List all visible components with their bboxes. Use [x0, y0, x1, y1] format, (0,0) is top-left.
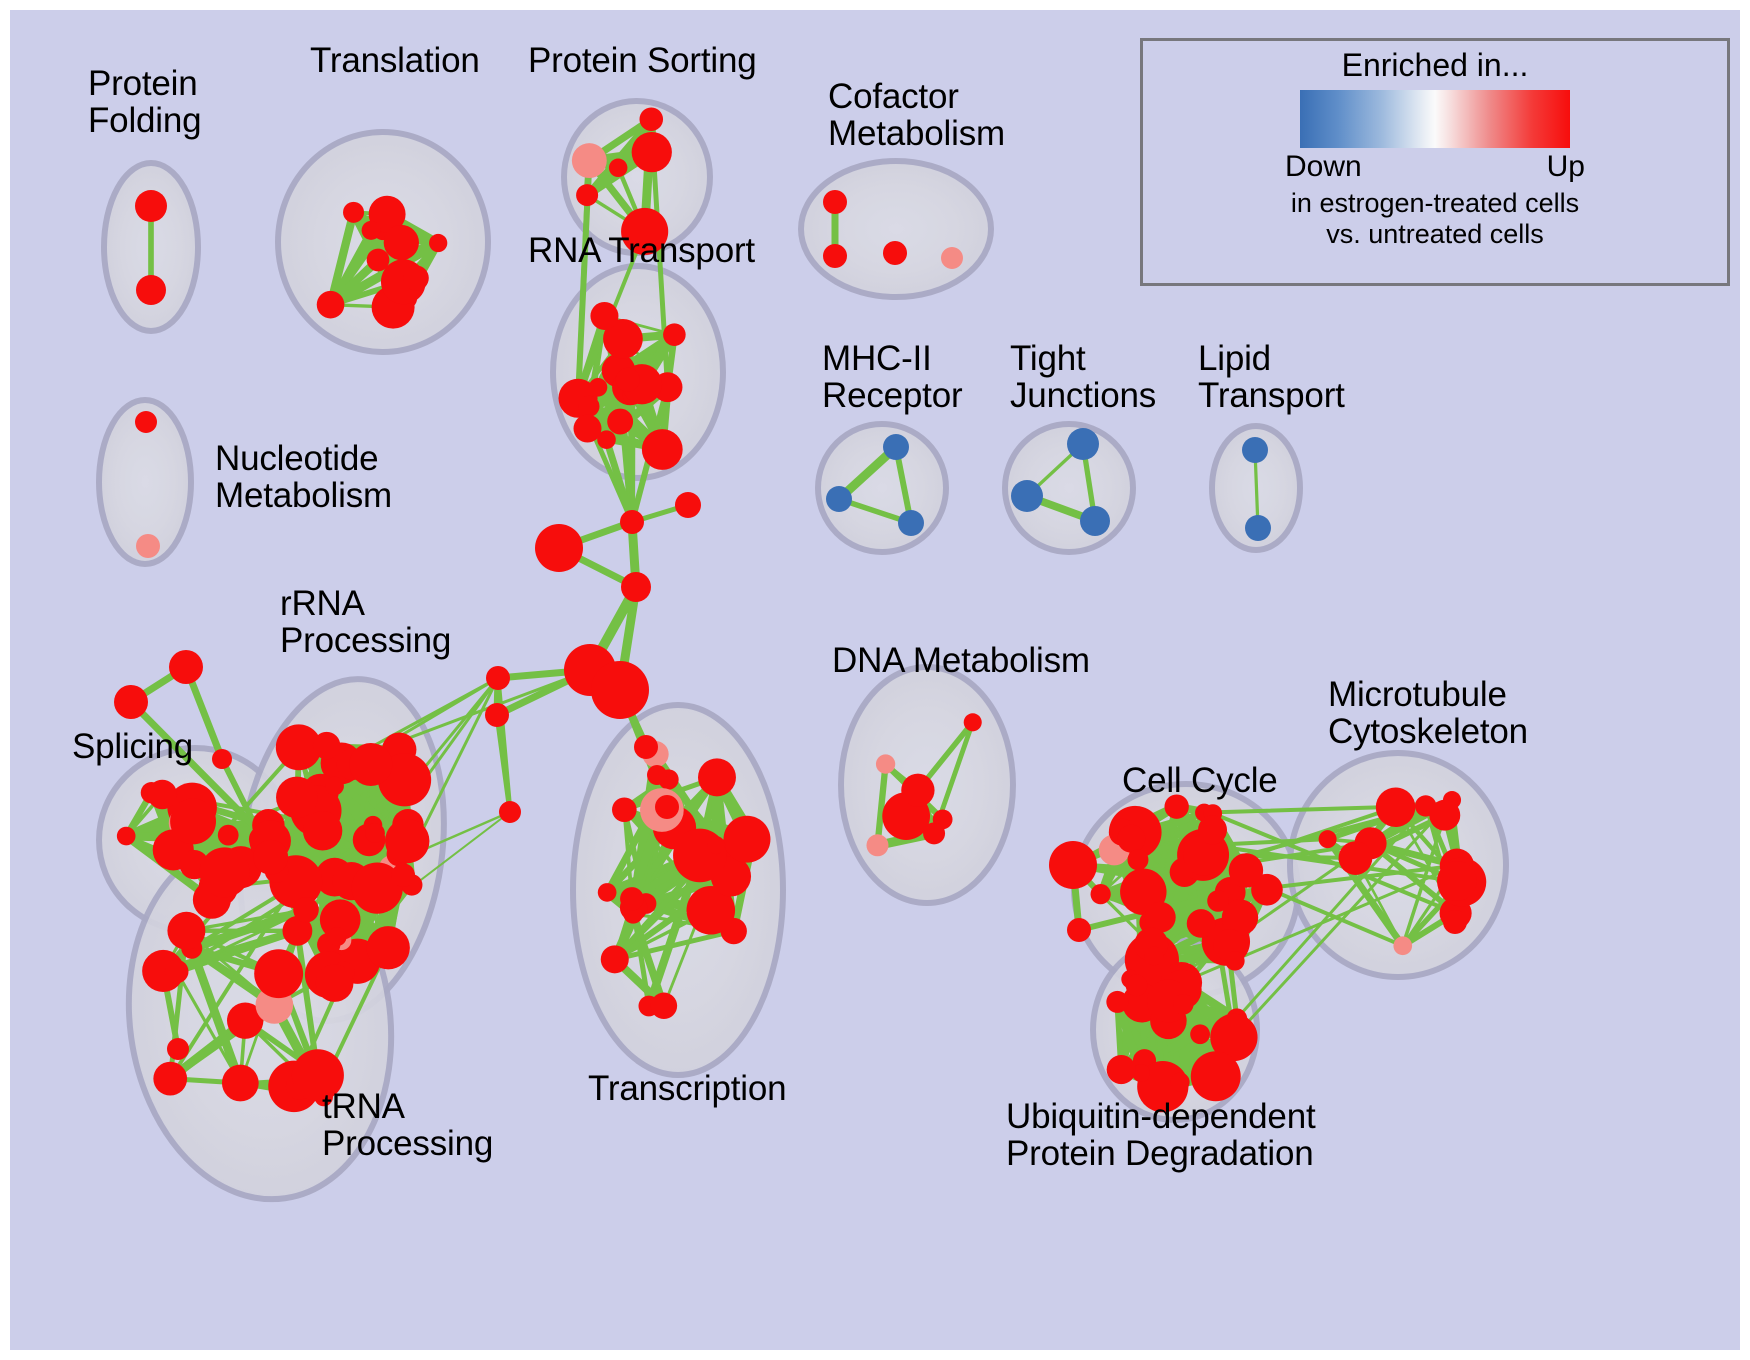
network-node[interactable]	[167, 912, 205, 950]
network-node[interactable]	[876, 754, 895, 773]
network-node[interactable]	[222, 1065, 259, 1102]
network-node[interactable]	[328, 927, 347, 946]
network-node[interactable]	[601, 945, 629, 973]
network-node[interactable]	[1376, 787, 1416, 827]
legend-low-label: Down	[1285, 150, 1362, 184]
network-node[interactable]	[325, 777, 344, 796]
network-node[interactable]	[823, 190, 847, 214]
network-node[interactable]	[723, 816, 770, 863]
cluster-label-ubiquitin-degradation: Ubiquitin-dependent Protein Degradation	[1006, 1098, 1316, 1172]
network-node[interactable]	[1107, 1055, 1136, 1084]
network-node[interactable]	[1173, 994, 1194, 1015]
network-node[interactable]	[1049, 841, 1097, 889]
network-node[interactable]	[941, 247, 963, 269]
network-node[interactable]	[578, 396, 599, 417]
network-node[interactable]	[826, 486, 852, 512]
network-node[interactable]	[535, 524, 583, 572]
network-node[interactable]	[167, 1038, 189, 1060]
network-node[interactable]	[1207, 890, 1229, 912]
network-node[interactable]	[153, 1062, 187, 1096]
network-node[interactable]	[576, 184, 598, 206]
network-node[interactable]	[313, 732, 340, 759]
network-node[interactable]	[1229, 853, 1263, 887]
network-node[interactable]	[1091, 884, 1111, 904]
network-node[interactable]	[598, 883, 617, 902]
cluster-label-protein-folding: Protein Folding	[88, 65, 201, 139]
network-node[interactable]	[1191, 1051, 1241, 1101]
network-node[interactable]	[117, 827, 136, 846]
network-node[interactable]	[883, 241, 907, 265]
network-node[interactable]	[621, 572, 651, 602]
network-node[interactable]	[1117, 825, 1145, 853]
network-node[interactable]	[572, 143, 607, 178]
network-node[interactable]	[367, 926, 410, 969]
network-node[interactable]	[135, 411, 157, 433]
cluster-label-rrna-processing: rRNA Processing	[280, 585, 451, 659]
network-node[interactable]	[675, 492, 701, 518]
legend-caption-line1: in estrogen-treated cells	[1291, 188, 1579, 219]
network-node[interactable]	[1242, 437, 1268, 463]
network-node[interactable]	[362, 221, 381, 240]
network-node[interactable]	[639, 107, 663, 131]
network-node[interactable]	[429, 234, 447, 252]
network-node[interactable]	[485, 703, 509, 727]
network-node[interactable]	[170, 798, 216, 844]
network-node[interactable]	[647, 765, 667, 785]
network-node[interactable]	[1245, 515, 1271, 541]
legend-caption-line2: vs. untreated cells	[1291, 219, 1579, 250]
network-node[interactable]	[200, 847, 250, 897]
cluster-label-cofactor-metabolism: Cofactor Metabolism	[828, 78, 1005, 152]
network-canvas: Protein FoldingTranslationProtein Sortin…	[10, 10, 1740, 1350]
network-node[interactable]	[1067, 428, 1099, 460]
network-node[interactable]	[698, 758, 736, 796]
network-node[interactable]	[655, 795, 679, 819]
network-node[interactable]	[253, 840, 288, 875]
network-node[interactable]	[883, 434, 909, 460]
cluster-label-trna-processing: tRNA Processing	[322, 1088, 493, 1162]
cluster-label-mhc-ii-receptor: MHC-II Receptor	[822, 340, 962, 414]
network-node[interactable]	[404, 265, 429, 290]
network-node[interactable]	[866, 834, 888, 856]
network-node[interactable]	[1106, 991, 1128, 1013]
network-node[interactable]	[486, 666, 510, 690]
network-node[interactable]	[1126, 974, 1148, 996]
cluster-label-nucleotide-metabolism: Nucleotide Metabolism	[215, 440, 392, 514]
network-node[interactable]	[823, 244, 847, 268]
network-node[interactable]	[898, 510, 924, 536]
network-node[interactable]	[135, 190, 167, 222]
network-node[interactable]	[349, 743, 392, 786]
network-node[interactable]	[1198, 815, 1227, 844]
network-node[interactable]	[1437, 861, 1477, 901]
network-node[interactable]	[612, 797, 637, 822]
network-node[interactable]	[1319, 830, 1337, 848]
cluster-label-transcription: Transcription	[588, 1070, 786, 1107]
network-node[interactable]	[616, 368, 640, 392]
cluster-label-dna-metabolism: DNA Metabolism	[832, 642, 1090, 679]
network-node[interactable]	[218, 825, 239, 846]
network-node[interactable]	[1393, 936, 1412, 955]
network-node[interactable]	[293, 897, 319, 923]
network-node[interactable]	[385, 819, 429, 863]
network-node[interactable]	[1225, 951, 1244, 970]
network-node[interactable]	[901, 774, 934, 807]
network-node[interactable]	[316, 964, 354, 1002]
network-node[interactable]	[365, 823, 385, 843]
network-node[interactable]	[114, 685, 148, 719]
network-node[interactable]	[317, 291, 345, 319]
network-node[interactable]	[1187, 909, 1216, 938]
network-node[interactable]	[499, 801, 521, 823]
network-node[interactable]	[303, 811, 342, 850]
network-node[interactable]	[1145, 947, 1164, 966]
network-node[interactable]	[589, 378, 608, 397]
legend-box: Enriched in... Down Up in estrogen-treat…	[1140, 38, 1730, 286]
network-node[interactable]	[1067, 918, 1091, 942]
network-node[interactable]	[707, 836, 725, 854]
network-node[interactable]	[1339, 841, 1373, 875]
cluster-label-cell-cycle: Cell Cycle	[1122, 762, 1278, 799]
network-node[interactable]	[607, 409, 633, 435]
network-node[interactable]	[136, 275, 166, 305]
cluster-label-translation: Translation	[310, 42, 480, 79]
network-node[interactable]	[634, 735, 658, 759]
network-node[interactable]	[1080, 506, 1110, 536]
network-node[interactable]	[1443, 910, 1467, 934]
network-node[interactable]	[609, 159, 628, 178]
network-node[interactable]	[923, 822, 945, 844]
figure-root: Protein FoldingTranslationProtein Sortin…	[0, 0, 1750, 1360]
network-node[interactable]	[1190, 1024, 1210, 1044]
network-node[interactable]	[169, 650, 203, 684]
network-node[interactable]	[620, 887, 644, 911]
network-node[interactable]	[384, 225, 419, 260]
cluster-label-lipid-transport: Lipid Transport	[1198, 340, 1345, 414]
cluster-label-rna-transport: RNA Transport	[528, 232, 755, 269]
legend-high-label: Up	[1547, 150, 1585, 184]
network-node[interactable]	[1128, 849, 1149, 870]
network-node[interactable]	[1171, 1073, 1190, 1092]
network-node[interactable]	[574, 415, 602, 443]
network-node[interactable]	[1429, 800, 1460, 831]
network-node[interactable]	[254, 949, 303, 998]
network-node[interactable]	[165, 960, 189, 984]
network-node[interactable]	[343, 202, 364, 223]
network-node[interactable]	[642, 429, 683, 470]
network-node[interactable]	[212, 749, 232, 769]
network-node[interactable]	[1011, 480, 1043, 512]
network-node[interactable]	[148, 780, 178, 810]
legend-end-labels: Down Up	[1285, 150, 1585, 184]
cluster-label-splicing: Splicing	[72, 728, 193, 765]
network-node[interactable]	[663, 323, 686, 346]
legend-title: Enriched in...	[1342, 47, 1529, 84]
network-node[interactable]	[591, 661, 649, 719]
cluster-blob-cofactor-metabolism	[801, 161, 991, 297]
network-node[interactable]	[136, 534, 160, 558]
network-node[interactable]	[276, 777, 318, 819]
network-node[interactable]	[367, 249, 390, 272]
legend-caption: in estrogen-treated cells vs. untreated …	[1291, 188, 1579, 250]
network-node[interactable]	[632, 132, 672, 172]
cluster-label-protein-sorting: Protein Sorting	[528, 42, 757, 79]
network-node[interactable]	[651, 993, 677, 1019]
legend-gradient-bar	[1300, 90, 1570, 148]
network-node[interactable]	[964, 713, 982, 731]
network-node[interactable]	[392, 863, 416, 887]
cluster-label-microtubule-cytoskeleton: Microtubule Cytoskeleton	[1328, 676, 1528, 750]
network-node[interactable]	[590, 302, 618, 330]
network-node[interactable]	[620, 510, 644, 534]
cluster-label-tight-junctions: Tight Junctions	[1010, 340, 1156, 414]
